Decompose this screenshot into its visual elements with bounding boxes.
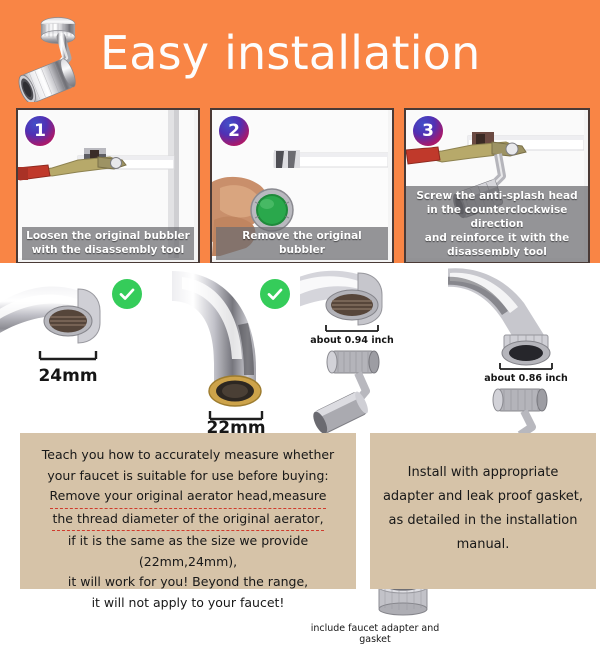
step-caption-3-line-2: in the counterclockwise direction: [408, 203, 586, 231]
step-caption-2: Remove the original bubbler: [216, 227, 388, 260]
install-note-line-2: adapter and leak proof gasket,: [370, 485, 596, 509]
dim-label-22mm: 22mm: [206, 418, 265, 433]
install-note-panel: Install with appropriate adapter and lea…: [370, 433, 596, 589]
check-icon-22mm: [260, 279, 290, 309]
install-note-text: Install with appropriate adapter and lea…: [370, 461, 596, 557]
step-caption-1: Loosen the original bubbler with the dis…: [22, 227, 194, 260]
step-badge-3: 3: [413, 116, 443, 146]
step-caption-3-line-4: disassembly tool: [408, 245, 586, 259]
measurement-22mm: 22mm: [152, 263, 300, 433]
page-title: Easy installation: [100, 26, 480, 80]
install-note-line-3: as detailed in the installation: [370, 509, 596, 533]
measurement-0-94-inch: about 0.94 inch: [300, 263, 448, 433]
measurement-0-86-inch: about 0.86 inch: [448, 263, 600, 433]
step-card-3: 3 Screw the anti-splash head in the coun…: [404, 108, 590, 264]
step-caption-1-line-1: Loosen the original bubbler: [24, 230, 192, 244]
faucet-0-86-inch-photo: about 0.86 inch: [448, 263, 600, 433]
measure-guide-line-1: Teach you how to accurately measure whet…: [20, 445, 356, 466]
measure-guide-line-2: your faucet is suitable for use before b…: [20, 466, 356, 487]
measure-guide-panel: Teach you how to accurately measure whet…: [20, 433, 356, 589]
dim-label-0-94-inch: about 0.94 inch: [310, 335, 394, 346]
product-infographic: Easy installation: [0, 0, 600, 600]
step-card-2: 2 Remove the original bubbler: [210, 108, 394, 264]
measure-guide-text: Teach you how to accurately measure whet…: [20, 445, 356, 613]
measure-guide-line-4: the thread diameter of the original aera…: [20, 509, 356, 532]
dim-label-0-86-inch: about 0.86 inch: [484, 373, 568, 384]
measure-guide-line-7: it will work for you! Beyond the range,: [20, 572, 356, 593]
faucet-0-94-inch-photo: about 0.94 inch: [300, 263, 448, 433]
measure-guide-line-6: (22mm,24mm),: [20, 552, 356, 573]
measure-guide-line-5: if it is the same as the size we provide: [20, 531, 356, 552]
step-card-1: 1 Loosen the original bubbler with the d…: [16, 108, 200, 264]
step-caption-1-line-2: with the disassembly tool: [24, 244, 192, 258]
step-caption-3-line-3: and reinforce it with the: [408, 231, 586, 245]
measure-guide-line-3: Remove your original aerator head,measur…: [20, 486, 356, 509]
dim-label-24mm: 24mm: [38, 366, 97, 386]
measurement-24mm: 24mm: [0, 263, 152, 433]
adapter-gasket-note: include faucet adapter and gasket: [300, 623, 450, 645]
measurement-strip: 24mm: [0, 263, 600, 433]
measure-guide-line-8: it will not apply to your faucet!: [20, 593, 356, 614]
check-icon-24mm: [112, 279, 142, 309]
header-band: Easy installation: [0, 0, 600, 263]
swivel-faucet-aerator-icon: [14, 10, 98, 102]
step-badge-1: 1: [25, 116, 55, 146]
step-caption-3: Screw the anti-splash head in the counte…: [406, 186, 588, 262]
install-note-line-1: Install with appropriate: [370, 461, 596, 485]
step-badge-2: 2: [219, 116, 249, 146]
step-caption-2-line-1: Remove the original bubbler: [218, 230, 386, 257]
install-note-line-4: manual.: [370, 533, 596, 557]
step-caption-3-line-1: Screw the anti-splash head: [408, 189, 586, 203]
